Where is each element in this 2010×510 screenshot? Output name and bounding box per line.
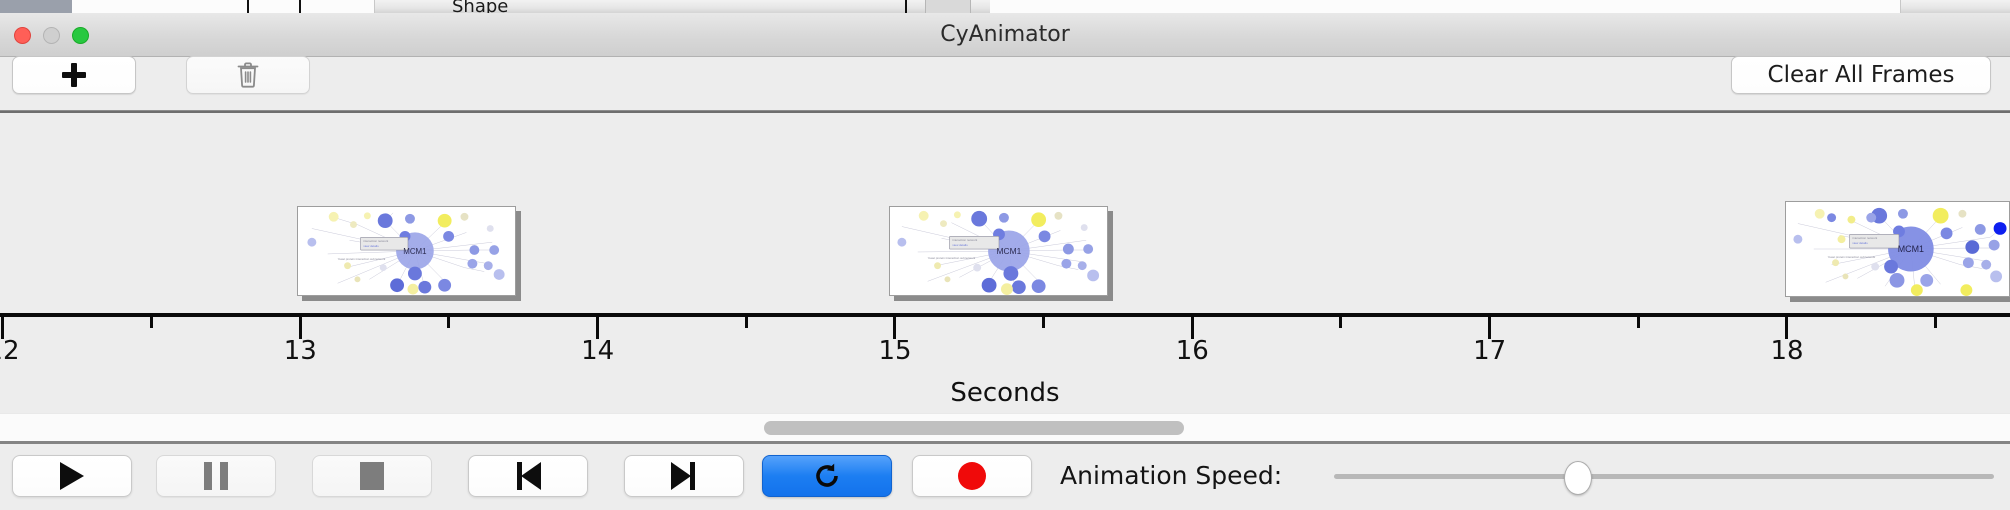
delete-frame-button[interactable] (186, 56, 310, 94)
axis-tick-label: 14 (581, 336, 614, 366)
loop-icon (812, 461, 842, 491)
background-strip-tick (299, 0, 301, 13)
window-title: CyAnimator (0, 13, 2010, 57)
timeline-scrollbar-thumb[interactable] (764, 421, 1184, 435)
pause-icon (204, 462, 228, 490)
zoom-button[interactable] (72, 27, 89, 44)
loop-button[interactable] (762, 455, 892, 497)
svg-text:view details: view details (363, 244, 379, 248)
background-strip-nub (925, 0, 971, 13)
slider-thumb[interactable] (1564, 461, 1592, 495)
record-button[interactable] (912, 455, 1032, 497)
background-window-strip: Shape (0, 0, 2010, 13)
svg-text:MCM1: MCM1 (1898, 244, 1924, 254)
axis-tick-minor (1042, 317, 1045, 328)
network-thumbnail-graphic: interaction network view details Yeast p… (298, 207, 515, 295)
svg-text:interaction network: interaction network (952, 238, 977, 242)
slider-rail (1334, 474, 1994, 479)
stop-button[interactable] (312, 455, 432, 497)
background-strip-segment (990, 0, 1811, 13)
cyanimator-window: Shape CyAnimator Clear All Frames (0, 0, 2010, 510)
close-button[interactable] (14, 27, 31, 44)
svg-text:Yeast protein interaction subn: Yeast protein interaction subnetwork (928, 256, 976, 260)
background-strip-dark-block (0, 0, 72, 13)
svg-text:interaction network: interaction network (363, 239, 388, 243)
axis-tick-minor (447, 317, 450, 328)
animation-speed-label: Animation Speed: (1060, 455, 1282, 497)
background-strip-segment (168, 0, 239, 13)
minimize-button[interactable] (43, 27, 60, 44)
window-controls (14, 27, 89, 44)
axis-tick-minor (745, 317, 748, 328)
background-strip-tick (905, 0, 907, 13)
background-strip-tick (247, 0, 249, 13)
frame-thumbnail: interaction network view details Yeast p… (1785, 201, 2010, 297)
pause-button[interactable] (156, 455, 276, 497)
background-strip-segment (72, 0, 169, 13)
axis-tick-minor (1934, 317, 1937, 328)
transport-bar: Animation Speed: (0, 444, 2010, 510)
last-frame-button[interactable] (624, 455, 744, 497)
svg-text:Yeast protein interaction subn: Yeast protein interaction subnetwork (1828, 255, 1876, 259)
trash-icon (237, 62, 259, 88)
svg-text:MCM1: MCM1 (997, 246, 1022, 256)
network-thumbnail-graphic: interaction network view details Yeast p… (1786, 202, 2009, 296)
axis-title: Seconds (0, 378, 2010, 408)
svg-text:view details: view details (1852, 241, 1868, 245)
background-strip-segment (300, 0, 375, 13)
stop-icon (360, 462, 384, 490)
clear-all-frames-button[interactable]: Clear All Frames (1731, 56, 1991, 94)
timeline-scrollbar[interactable] (0, 413, 2010, 441)
add-frame-button[interactable] (12, 56, 136, 94)
skip-to-start-icon (515, 462, 541, 490)
axis-tick-label: 15 (878, 336, 911, 366)
frame-thumbnail: interaction network view details Yeast p… (297, 206, 516, 296)
background-strip-shape-label: Shape (452, 0, 508, 13)
timeline-canvas[interactable]: interaction network view details Yeast p… (0, 113, 2010, 315)
play-button[interactable] (12, 455, 132, 497)
timeline-frame[interactable]: interaction network view details Yeast p… (889, 206, 1108, 296)
axis-tick-minor (1637, 317, 1640, 328)
axis-tick-label: 16 (1176, 336, 1209, 366)
svg-text:view details: view details (952, 243, 968, 247)
svg-text:MCM1: MCM1 (403, 247, 426, 256)
axis-tick-label: 13 (284, 336, 317, 366)
axis-tick-label: 12 (0, 336, 20, 366)
plus-icon (62, 63, 86, 87)
timeline-frame[interactable]: interaction network view details Yeast p… (1785, 201, 2010, 297)
skip-to-end-icon (671, 462, 697, 490)
network-thumbnail-graphic: interaction network view details Yeast p… (890, 207, 1107, 295)
svg-text:interaction network: interaction network (1852, 236, 1877, 240)
axis-tick-minor (150, 317, 153, 328)
background-strip-segment (1810, 0, 1901, 13)
axis-tick-label: 18 (1770, 336, 1803, 366)
animation-speed-slider[interactable] (1334, 455, 1994, 497)
frame-thumbnail: interaction network view details Yeast p… (889, 206, 1108, 296)
axis-tick-label: 17 (1473, 336, 1506, 366)
play-icon (60, 462, 84, 490)
svg-text:Yeast protein interaction subn: Yeast protein interaction subnetwork (338, 257, 386, 261)
axis-tick-minor (1339, 317, 1342, 328)
first-frame-button[interactable] (468, 455, 588, 497)
timeline-frame[interactable]: interaction network view details Yeast p… (297, 206, 516, 296)
record-icon (958, 462, 986, 490)
title-bar: CyAnimator (0, 13, 2010, 57)
